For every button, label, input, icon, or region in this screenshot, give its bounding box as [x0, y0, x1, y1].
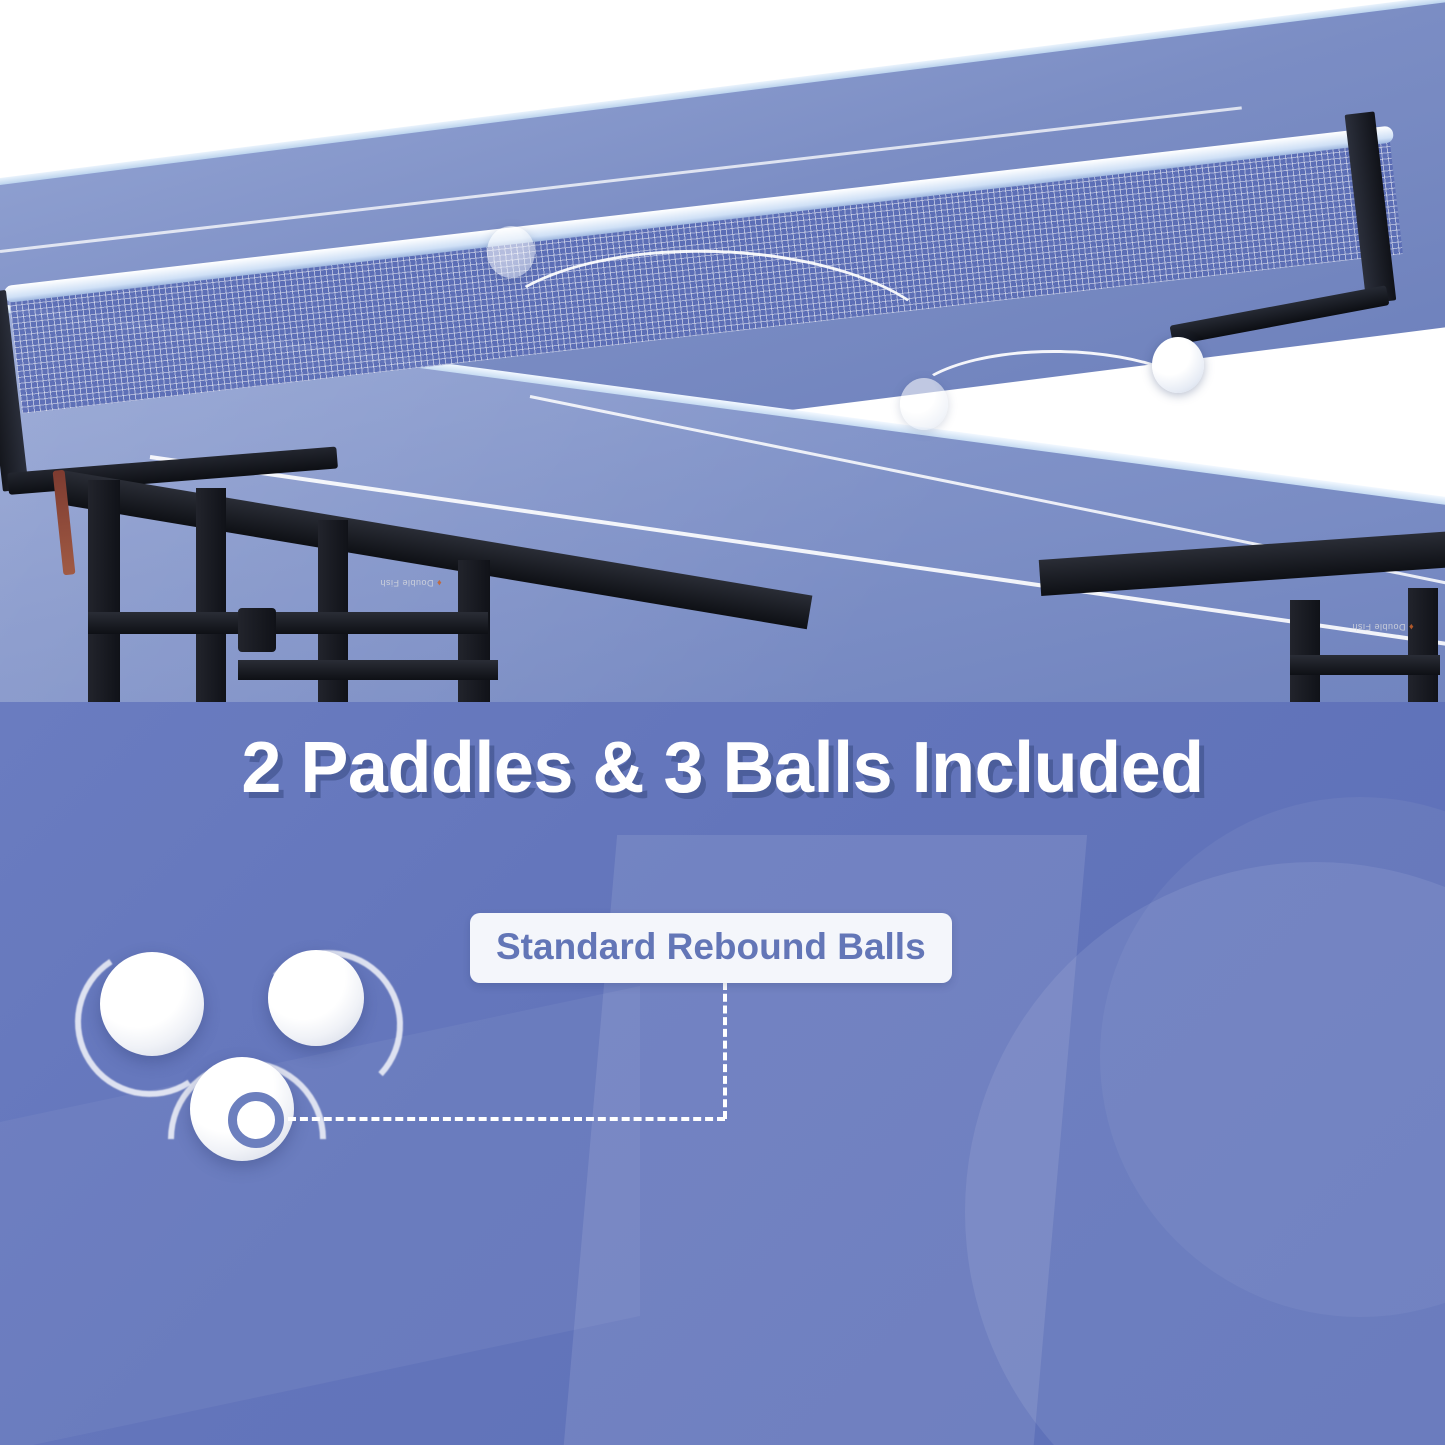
table-leg-6 [1408, 588, 1438, 702]
table-crossbar-left-lower [238, 660, 498, 680]
panel-headline: 2 Paddles & 3 Balls Included [0, 727, 1445, 809]
table-tennis-table-photo: ♦ Double Fish ♦ Double Fish [0, 0, 1445, 702]
brand-flame-icon: ♦ [437, 578, 442, 588]
table-leg-2 [196, 488, 226, 702]
table-leg-5 [1290, 600, 1320, 702]
ball-1 [100, 952, 204, 1056]
brand-label: Double Fish [380, 578, 434, 588]
ball-callout-dash-horizontal [288, 1117, 725, 1121]
table-crossbar-left [88, 612, 488, 634]
table-leg-1 [88, 480, 120, 702]
brand-flame-icon: ♦ [1409, 622, 1414, 632]
ball-current [1152, 337, 1204, 393]
brand-label: Double Fish [1352, 622, 1406, 632]
table-wheel-bracket-left [238, 608, 276, 652]
callout-standard-rebound-balls[interactable]: Standard Rebound Balls [470, 913, 952, 983]
ball-callout-dash-vertical [723, 982, 727, 1119]
ball-bounce-2 [900, 378, 948, 430]
features-panel: 2 Paddles & 3 Balls Included Standard Re… [0, 702, 1445, 1445]
brand-mark-right: ♦ Double Fish [1352, 622, 1414, 632]
product-infographic: ♦ Double Fish ♦ Double Fish 2 Paddles & … [0, 0, 1445, 1445]
brand-mark-left: ♦ Double Fish [380, 578, 442, 588]
ball-callout-marker [228, 1092, 284, 1148]
ball-2 [268, 950, 364, 1046]
ball-bounce-1 [487, 226, 535, 278]
table-crossbar-right [1290, 655, 1440, 675]
